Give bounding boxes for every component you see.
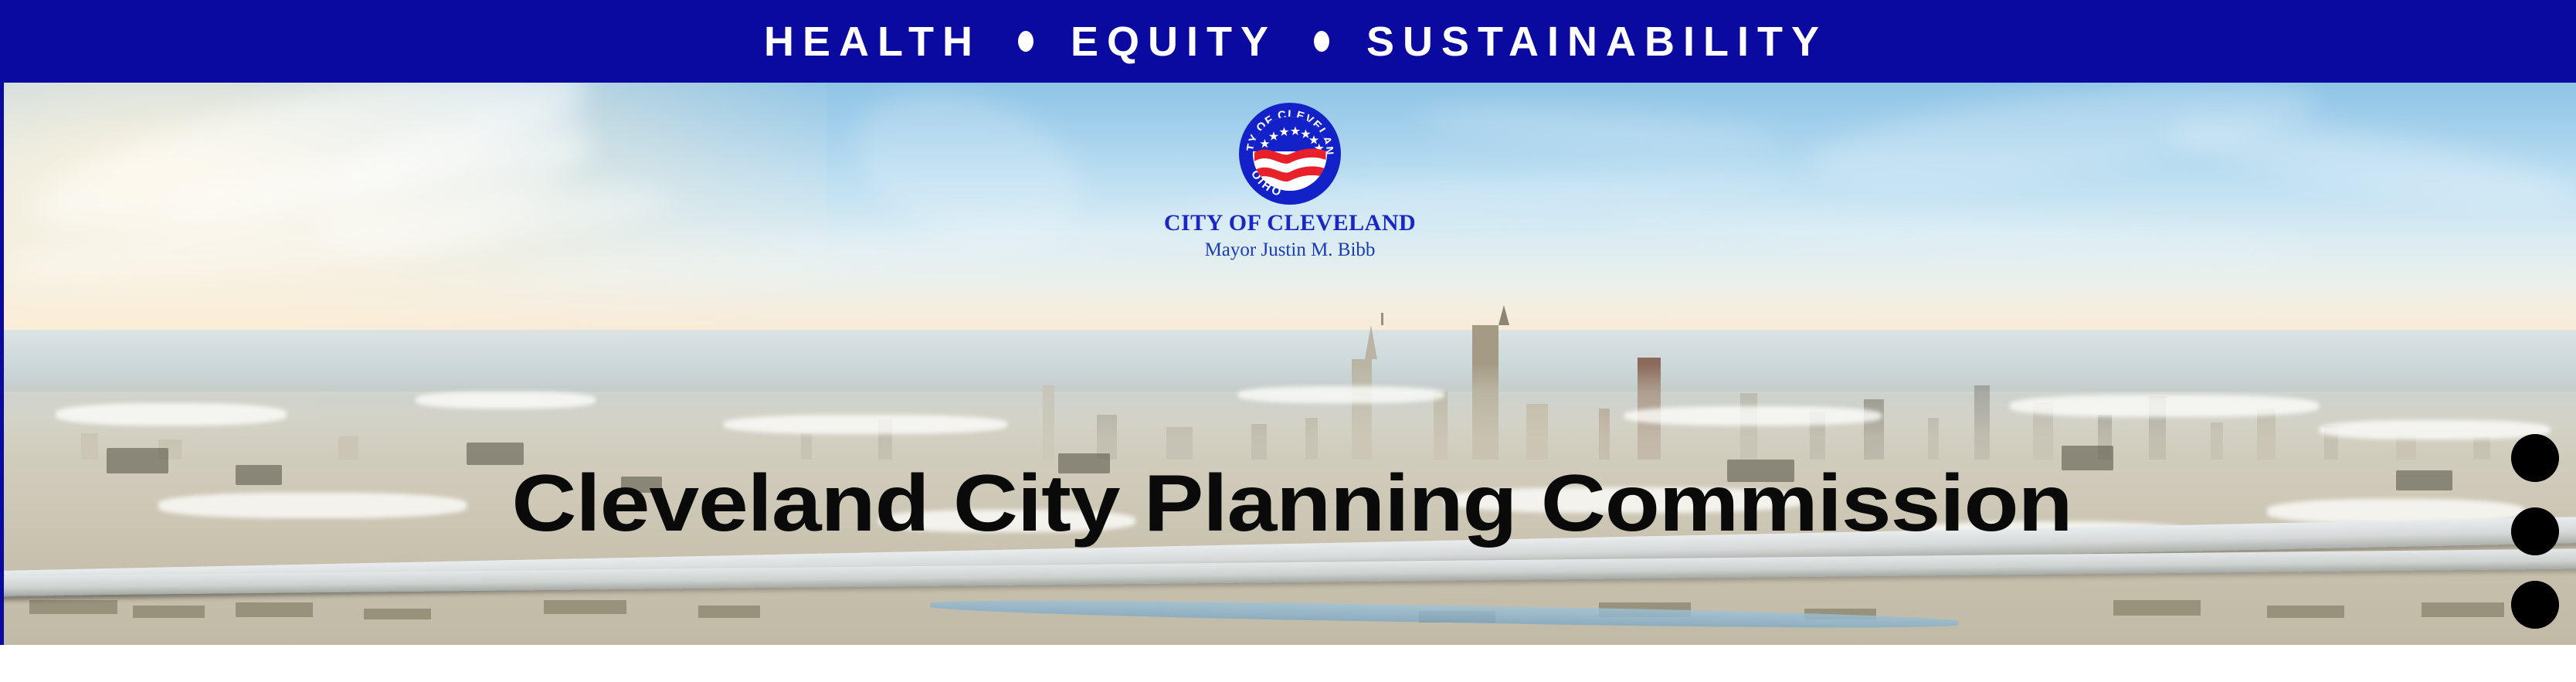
city-identity-block: CITY OF CLEVELAND OHIO [1128,103,1452,260]
seal-flag-icon [1253,139,1327,191]
tagline-separator-dot-2 [1314,31,1329,52]
social-links [2511,434,2559,629]
seal-inner-disc [1253,117,1327,191]
tagline-word-health: HEALTH [764,21,981,63]
tagline-banner: HEALTH EQUITY SUSTAINABILITY [0,0,2576,83]
cuyahoga-river [930,596,1959,631]
page-title: Cleveland City Planning Commission [0,463,2576,544]
city-wordmark: CITY OF CLEVELAND [1164,212,1416,235]
youtube-icon[interactable] [2511,434,2559,482]
hero-photo: CITY OF CLEVELAND OHIO [0,83,2576,645]
bottom-whitespace [0,645,2576,682]
tagline-inner: HEALTH EQUITY SUSTAINABILITY [764,21,1828,63]
tagline-word-equity: EQUITY [1071,21,1277,63]
tagline-word-sustainability: SUSTAINABILITY [1366,21,1828,63]
mayor-name: Mayor Justin M. Bibb [1205,240,1376,260]
tagline-separator-dot-1 [1018,31,1033,52]
page-root: HEALTH EQUITY SUSTAINABILITY [0,0,2576,682]
city-of-cleveland-seal-icon: CITY OF CLEVELAND OHIO [1239,103,1341,205]
instagram-icon[interactable] [2511,507,2559,555]
facebook-icon[interactable] [2511,581,2559,629]
